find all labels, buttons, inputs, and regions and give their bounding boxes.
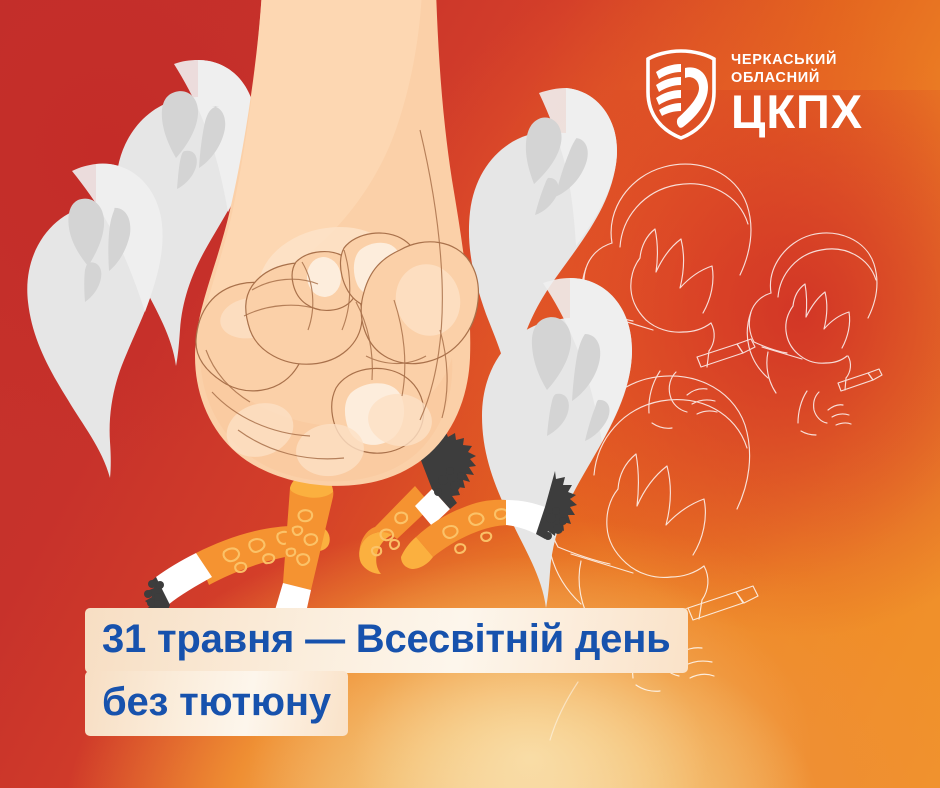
logo-wordmark: ЧЕРКАСЬКИЙ ОБЛАСНИЙ ЦКПХ — [731, 53, 863, 135]
logo-acronym: ЦКПХ — [731, 89, 863, 135]
caption-line-2: без тютюну — [85, 671, 348, 736]
logo-line-2: ОБЛАСНИЙ — [731, 71, 863, 86]
shield-heart-logo-icon — [645, 48, 717, 140]
organization-logo: ЧЕРКАСЬКИЙ ОБЛАСНИЙ ЦКПХ — [645, 48, 863, 140]
caption-line-1: 31 травня — Всесвітній день — [85, 608, 688, 673]
caption-banner: 31 травня — Всесвітній день без тютюну — [85, 608, 688, 736]
poster-canvas: ЧЕРКАСЬКИЙ ОБЛАСНИЙ ЦКПХ 31 травня — Все… — [0, 0, 940, 788]
logo-line-1: ЧЕРКАСЬКИЙ — [731, 53, 863, 68]
